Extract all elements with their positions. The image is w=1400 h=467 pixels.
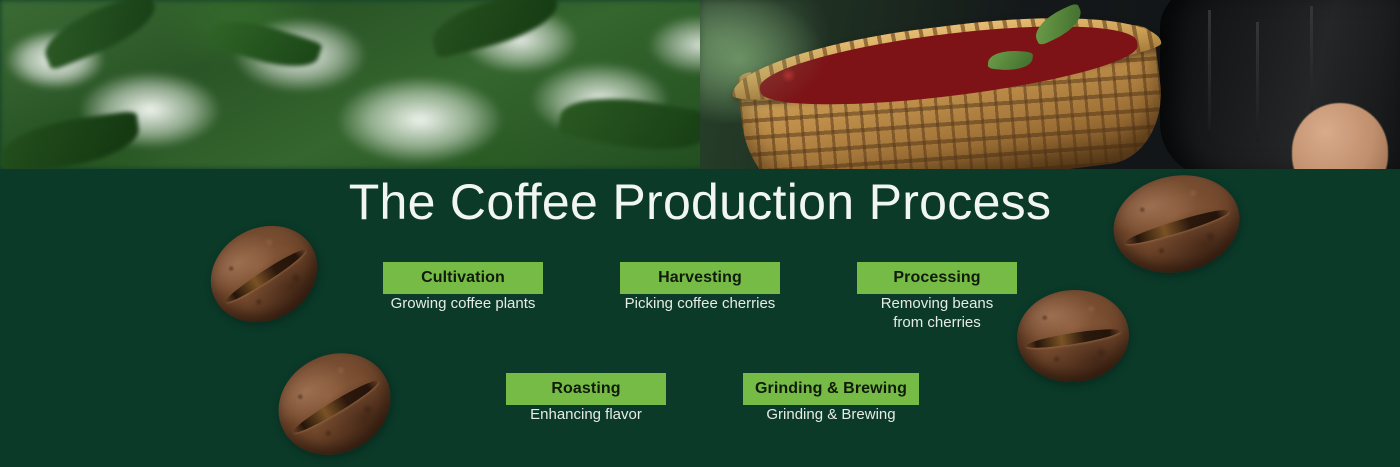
step-processing-label[interactable]: Processing: [857, 262, 1017, 294]
step-harvesting[interactable]: Harvesting Picking coffee cherries: [620, 262, 780, 313]
step-roasting[interactable]: Roasting Enhancing flavor: [506, 373, 666, 424]
step-roasting-description: Enhancing flavor: [530, 406, 642, 423]
coffee-bean-bottom-left: [261, 335, 407, 467]
step-cultivation-description: Growing coffee plants: [391, 295, 536, 312]
step-harvesting-label[interactable]: Harvesting: [620, 262, 780, 294]
basket-weave: [736, 23, 1169, 169]
basket-leaf: [1030, 2, 1087, 46]
step-processing[interactable]: Processing Removing beans from cherries: [857, 262, 1017, 332]
step-grinding-brewing[interactable]: Grinding & Brewing Grinding & Brewing: [743, 373, 919, 424]
coffee-harvest-photo: [700, 0, 1400, 169]
hero-banner-image: [0, 0, 1400, 169]
sleeve-seam: [1310, 6, 1313, 126]
harvester-sleeve: [1160, 0, 1400, 169]
step-processing-description: Removing beans from cherries: [881, 295, 994, 331]
coffee-bean-middle-right: [1014, 286, 1132, 386]
step-roasting-label[interactable]: Roasting: [506, 373, 666, 405]
step-grinding-brewing-label[interactable]: Grinding & Brewing: [743, 373, 919, 405]
step-grinding-brewing-description: Grinding & Brewing: [766, 406, 895, 423]
sleeve-seam: [1208, 10, 1211, 130]
step-cultivation-label[interactable]: Cultivation: [383, 262, 543, 294]
basket-rim: [727, 0, 1163, 110]
step-cultivation[interactable]: Cultivation Growing coffee plants: [383, 262, 543, 313]
harvester-arm: [1292, 103, 1388, 169]
coffee-process-infographic: The Coffee Production Process Cultivatio…: [0, 0, 1400, 467]
basket-leaf: [988, 49, 1034, 73]
sleeve-seam: [1256, 22, 1259, 142]
coffee-cherries: [756, 11, 1141, 119]
wicker-basket: [731, 0, 1169, 169]
step-harvesting-description: Picking coffee cherries: [625, 295, 776, 312]
